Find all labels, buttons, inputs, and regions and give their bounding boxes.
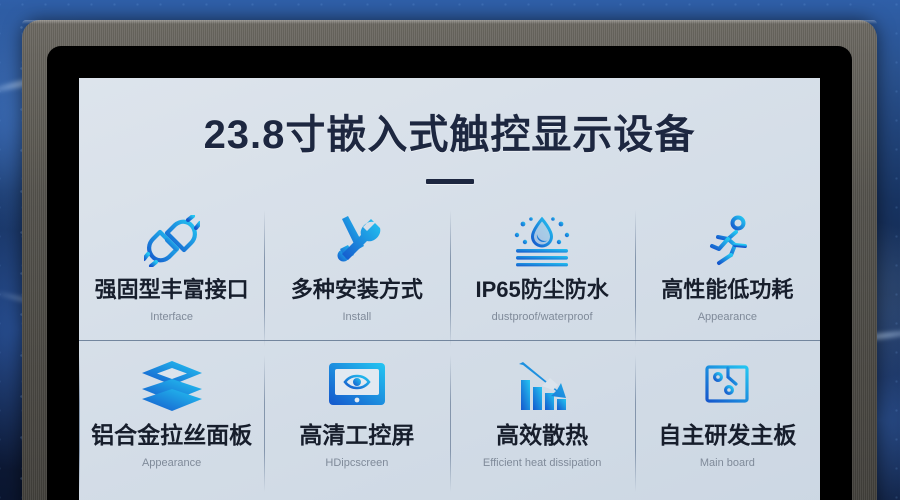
feature-title: 自主研发主板 — [658, 423, 796, 448]
feature-title: 高性能低功耗 — [661, 278, 793, 302]
feature-cell-mainboard[interactable]: 自主研发主板 Main board — [635, 351, 820, 496]
monitor-bezel: 23.8寸嵌入式触控显示设备 — [22, 20, 877, 500]
page-title: 23.8寸嵌入式触控显示设备 — [79, 102, 820, 160]
feature-subtitle: HDipcscreen — [325, 457, 388, 469]
product-poster: 23.8寸嵌入式触控显示设备 — [0, 0, 900, 500]
feature-cell-interface[interactable]: 强固型丰富接口 Interface — [79, 206, 264, 351]
feature-cell-panel[interactable]: 铝合金拉丝面板 Appearance — [79, 351, 264, 496]
stacked-layers-icon — [140, 357, 204, 415]
water-droplet-dust-icon — [511, 212, 573, 270]
feature-grid: 强固型丰富接口 Interface — [79, 206, 820, 496]
feature-subtitle: Appearance — [142, 457, 201, 469]
feature-subtitle: dustproof/waterproof — [492, 311, 593, 323]
declining-bar-chart-icon — [511, 357, 573, 415]
monitor-eye-icon — [327, 357, 387, 415]
feature-cell-heat-dissipation[interactable]: 高效散热 Efficient heat dissipation — [450, 351, 635, 496]
feature-title: 高清工控屏 — [299, 423, 414, 448]
feature-title: 强固型丰富接口 — [95, 278, 249, 302]
feature-subtitle: Efficient heat dissipation — [483, 457, 601, 469]
feature-cell-install[interactable]: 多种安装方式 Install — [264, 206, 449, 351]
feature-title: 多种安装方式 — [291, 278, 423, 302]
feature-cell-performance[interactable]: 高性能低功耗 Appearance — [635, 206, 820, 351]
title-divider — [426, 179, 474, 184]
feature-title: IP65防尘防水 — [475, 278, 608, 302]
feature-cell-hd-screen[interactable]: 高清工控屏 HDipcscreen — [264, 351, 449, 496]
monitor-screen: 23.8寸嵌入式触控显示设备 — [79, 78, 820, 500]
feature-subtitle: Interface — [150, 311, 193, 323]
monitor-inner-frame: 23.8寸嵌入式触控显示设备 — [47, 46, 852, 500]
screwdriver-wrench-icon — [330, 212, 384, 270]
running-person-icon — [698, 212, 756, 270]
feature-subtitle: Install — [343, 311, 372, 323]
microchip-board-icon — [694, 357, 760, 415]
feature-title: 铝合金拉丝面板 — [91, 423, 252, 448]
feature-title: 高效散热 — [496, 423, 588, 448]
feature-subtitle: Appearance — [698, 311, 757, 323]
plug-connector-icon — [144, 212, 200, 270]
feature-cell-ip65[interactable]: IP65防尘防水 dustproof/waterproof — [450, 206, 635, 351]
feature-subtitle: Main board — [700, 457, 755, 469]
